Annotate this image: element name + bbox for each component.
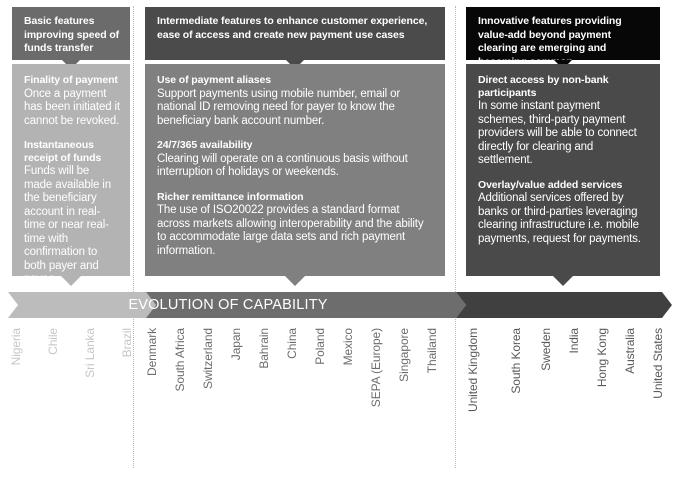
section-text: Additional services offered by banks or … — [478, 192, 650, 246]
country-label: Brazil — [121, 328, 133, 357]
chevron-down-icon — [553, 276, 573, 286]
section-text: Once a payment has been initiated it can… — [24, 88, 120, 129]
country-label: South Korea — [510, 328, 522, 394]
stage-2-column: Intermediate features to enhance custome… — [145, 7, 445, 276]
country-label: Bahrain — [258, 328, 270, 369]
stage-3-body: Direct access by non-bank participants I… — [466, 64, 660, 276]
country-label: Sri Lanka — [84, 328, 96, 378]
country-label: China — [286, 328, 298, 359]
section-text: Funds will be made available in the bene… — [24, 165, 120, 287]
stage-2-body: Use of payment aliases Support payments … — [145, 64, 445, 276]
country-label: Mexico — [342, 328, 354, 365]
section-title: Use of payment aliases — [157, 74, 435, 87]
stage-3-section-1: Direct access by non-bank participants I… — [478, 74, 650, 168]
country-label: Australia — [624, 328, 636, 374]
stage-3-header: Innovative features providing value-add … — [466, 7, 660, 60]
evolution-axis-label: EVOLUTION OF CAPABILITY — [8, 292, 448, 318]
country-label: Denmark — [146, 328, 158, 376]
section-text: In some instant payment schemes, third-p… — [478, 100, 650, 168]
stage-1-section-2: Instantaneous receipt of funds Funds wil… — [24, 139, 120, 287]
stage-2-section-3: Richer remittance information The use of… — [157, 191, 435, 259]
country-label: Singapore — [398, 328, 410, 382]
country-label: Thailand — [426, 328, 438, 373]
chevron-down-icon — [285, 276, 305, 286]
stage-1-body: Finality of payment Once a payment has b… — [12, 64, 130, 276]
section-title: Direct access by non-bank participants — [478, 74, 650, 99]
stage-2-section-2: 24/7/365 availability Clearing will oper… — [157, 139, 435, 180]
stage-1-column: Basic features improving speed of funds … — [12, 7, 130, 276]
country-label: Hong Kong — [596, 328, 608, 387]
stage-1-section-1: Finality of payment Once a payment has b… — [24, 74, 120, 128]
country-label: Chile — [47, 328, 59, 355]
country-labels: Nigeria Chile Sri Lanka Brazil Denmark S… — [0, 328, 680, 487]
country-label: Japan — [230, 328, 242, 360]
country-label: SEPA (Europe) — [370, 328, 382, 407]
stage-2-header-text: Intermediate features to enhance custome… — [157, 15, 427, 41]
section-text: The use of ISO20022 provides a standard … — [157, 204, 435, 258]
stage-1-header-text: Basic features improving speed of funds … — [24, 15, 119, 54]
section-title: Richer remittance information — [157, 191, 435, 204]
country-label: Poland — [314, 328, 326, 365]
country-label: United Kingdom — [467, 328, 479, 412]
stage-3-section-2: Overlay/value added services Additional … — [478, 179, 650, 247]
evolution-arrow-bar: EVOLUTION OF CAPABILITY — [8, 292, 672, 318]
section-title: Instantaneous receipt of funds — [24, 139, 120, 164]
country-label: Nigeria — [10, 328, 22, 365]
stage-2-header: Intermediate features to enhance custome… — [145, 7, 445, 60]
section-text: Support payments using mobile number, em… — [157, 88, 435, 129]
country-label: Sweden — [540, 328, 552, 371]
country-label: South Africa — [174, 328, 186, 392]
section-title: 24/7/365 availability — [157, 139, 435, 152]
section-text: Clearing will operate on a continuous ba… — [157, 153, 435, 180]
stage-2-section-1: Use of payment aliases Support payments … — [157, 74, 435, 128]
stage-3-column: Innovative features providing value-add … — [466, 7, 660, 276]
arrow-segment-3 — [456, 292, 672, 318]
country-label: India — [568, 328, 580, 354]
diagram-canvas: Basic features improving speed of funds … — [0, 0, 680, 487]
section-title: Finality of payment — [24, 74, 120, 87]
chevron-down-icon — [61, 276, 81, 286]
country-label: United States — [652, 328, 664, 399]
country-label: Switzerland — [202, 328, 214, 389]
section-title: Overlay/value added services — [478, 179, 650, 192]
stage-3-header-text: Innovative features providing value-add … — [478, 15, 622, 68]
stage-1-header: Basic features improving speed of funds … — [12, 7, 130, 60]
